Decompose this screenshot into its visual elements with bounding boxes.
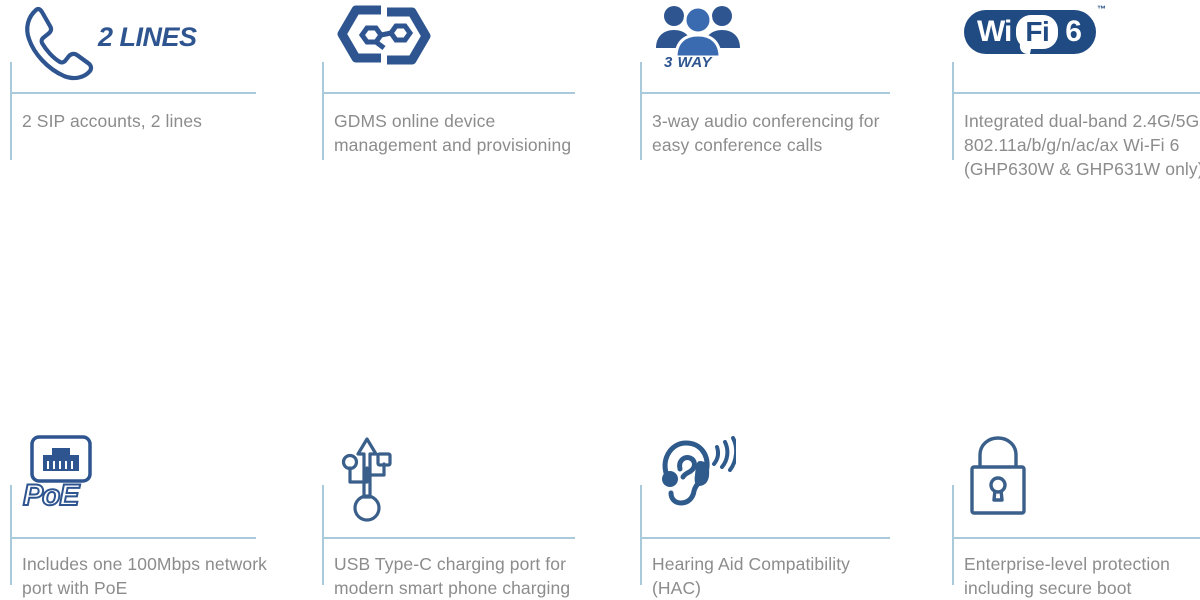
feature-card-two-lines: 2 LINES 2 SIP accounts, 2 lines — [0, 0, 312, 207]
rule-vertical — [322, 485, 324, 585]
rule-horizontal — [640, 537, 890, 539]
rule-vertical — [952, 62, 954, 160]
feature-card-usb-type-c: USB Type-C charging port for modern smar… — [312, 207, 630, 413]
feature-description: Enterprise-level protection including se… — [964, 552, 1200, 600]
rule-horizontal — [322, 537, 575, 539]
feature-icon-label: PoE — [23, 479, 78, 513]
feature-card-wifi6: Wi Fi 6 ™ Integrated dual-band 2.4G/5G 8… — [942, 0, 1200, 207]
feature-grid: 2 LINES 2 SIP accounts, 2 lines — [0, 0, 1200, 413]
padlock-icon — [964, 435, 1032, 524]
feature-description: Includes one 100Mbps network port with P… — [22, 552, 274, 600]
feature-icon-security — [964, 435, 1032, 521]
rule-vertical — [10, 62, 12, 160]
feature-description: Hearing Aid Compatibility (HAC) — [652, 552, 904, 600]
feature-card-gdms: GDMS online device management and provis… — [312, 0, 630, 207]
feature-icon-two-lines: 2 LINES — [22, 4, 197, 84]
feature-card-hearing-aid: Hearing Aid Compatibility (HAC) — [630, 207, 942, 413]
phone-handset-icon — [22, 4, 96, 89]
feature-icon-poe: PoE — [22, 435, 102, 521]
rule-vertical — [10, 485, 12, 585]
feature-description: USB Type-C charging port for modern smar… — [334, 552, 586, 600]
wifi6-fi-text: Fi — [1025, 17, 1049, 47]
feature-icon-wifi6: Wi Fi 6 ™ — [964, 4, 1096, 84]
feature-icon-three-way: 3 WAY — [652, 4, 744, 84]
rule-horizontal — [10, 92, 256, 94]
feature-description: 3-way audio conferencing for easy confer… — [652, 109, 904, 157]
rule-vertical — [952, 485, 954, 585]
rule-horizontal — [640, 92, 890, 94]
rule-vertical — [640, 485, 642, 585]
feature-icon-hearing-aid — [652, 435, 736, 521]
feature-card-three-way: 3 WAY 3-way audio conferencing for easy … — [630, 0, 942, 207]
ear-hearing-aid-icon — [652, 435, 736, 522]
rule-vertical — [322, 62, 324, 160]
feature-icon-usb — [334, 435, 400, 521]
wifi6-wi-text: Wi — [977, 17, 1011, 47]
rule-horizontal — [322, 92, 575, 94]
usb-trident-icon — [334, 435, 400, 532]
feature-icon-label: 2 LINES — [98, 22, 197, 53]
feature-icon-label: 3 WAY — [664, 54, 712, 71]
feature-icon-gdms — [334, 4, 434, 84]
wifi-6-logo-icon: Wi Fi 6 ™ — [964, 4, 1096, 54]
feature-card-security: Enterprise-level protection including se… — [942, 207, 1200, 413]
feature-description: 2 SIP accounts, 2 lines — [22, 109, 274, 133]
rule-vertical — [640, 62, 642, 160]
feature-card-poe: PoE Includes one 100Mbps network port wi… — [0, 207, 312, 413]
feature-description: GDMS online device management and provis… — [334, 109, 586, 157]
gdms-hexagon-network-icon — [334, 4, 434, 71]
rule-horizontal — [952, 537, 1200, 539]
trademark-icon: ™ — [1097, 4, 1106, 14]
feature-description: Integrated dual-band 2.4G/5G 802.11a/b/g… — [964, 109, 1200, 181]
wifi6-six-text: 6 — [1065, 17, 1082, 47]
rule-horizontal — [10, 537, 256, 539]
wifi6-fi-pill: Fi — [1016, 15, 1058, 49]
rule-horizontal — [952, 92, 1200, 94]
